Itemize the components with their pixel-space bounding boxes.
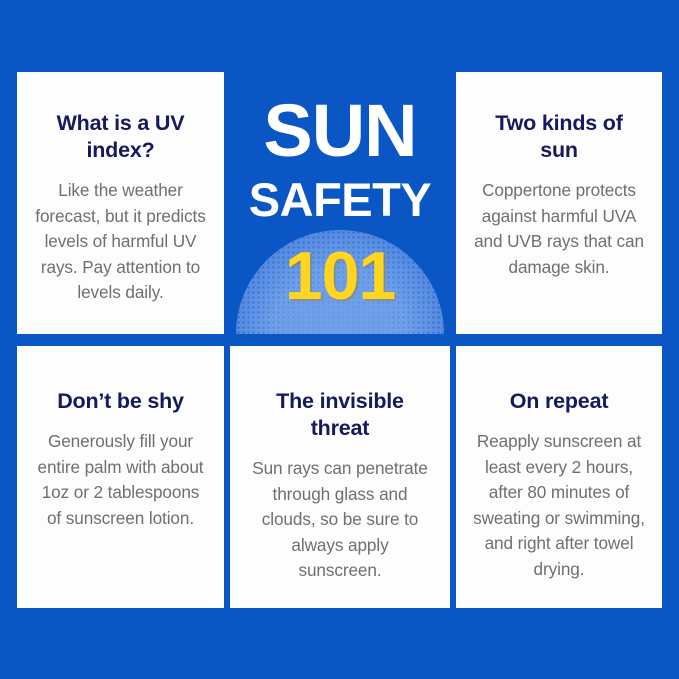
card-two-kinds-of-sun: Two kinds of sun Coppertone protects aga… xyxy=(456,72,662,334)
card-invisible-threat: The invisible threat Sun rays can penetr… xyxy=(230,346,450,608)
sun-safety-infographic: What is a UV index? Like the weather for… xyxy=(0,0,679,679)
card-uv-index: What is a UV index? Like the weather for… xyxy=(17,72,224,334)
card-body: Coppertone protects against harmful UVA … xyxy=(470,178,648,280)
card-title: The invisible threat xyxy=(265,388,415,442)
card-title: Don’t be shy xyxy=(57,388,184,415)
logo-grid-slot xyxy=(230,72,450,334)
card-title: On repeat xyxy=(510,388,609,415)
card-title: Two kinds of sun xyxy=(484,110,634,164)
card-grid: What is a UV index? Like the weather for… xyxy=(17,72,662,608)
card-dont-be-shy: Don’t be shy Generously fill your entire… xyxy=(17,346,224,608)
card-body: Like the weather forecast, but it predic… xyxy=(35,178,207,306)
card-on-repeat: On repeat Reapply sunscreen at least eve… xyxy=(456,346,662,608)
card-body: Sun rays can penetrate through glass and… xyxy=(250,456,430,584)
card-body: Reapply sunscreen at least every 2 hours… xyxy=(470,429,648,582)
card-title: What is a UV index? xyxy=(41,110,201,164)
card-body: Generously fill your entire palm with ab… xyxy=(33,429,209,531)
